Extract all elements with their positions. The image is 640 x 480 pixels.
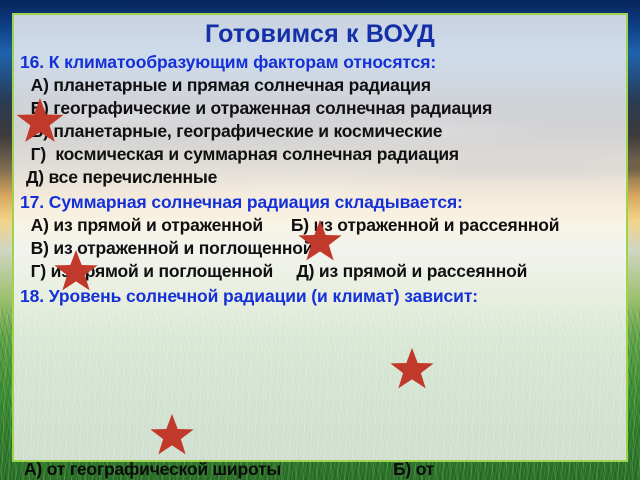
question-17-prompt: 17. Суммарная солнечная радиация складыв… [20, 191, 620, 214]
question-block-17: 17. Суммарная солнечная радиация складыв… [20, 191, 620, 283]
question-17-answer-a-b[interactable]: А) из прямой и отраженной Б) из отраженн… [20, 214, 620, 237]
question-block-18: 18. Уровень солнечной радиации (и климат… [20, 285, 620, 308]
overflow-text-line-label: А) от географической широты Б) от [0, 462, 640, 480]
overflow-text-line: А) от географической широты Б) от [0, 462, 640, 480]
question-17-answer-g-d[interactable]: Г) из прямой и поглощенной Д) из прямой … [20, 260, 620, 283]
question-16-answer-v[interactable]: В) планетарные, географические и космиче… [20, 120, 620, 143]
content-panel: Готовимся к ВОУД 16. К климатообразующим… [12, 13, 628, 462]
question-16-answer-b[interactable]: Б) географические и отраженная солнечная… [20, 97, 620, 120]
question-block-16: 16. К климатообразующим факторам относят… [20, 51, 620, 189]
question-17-answer-v[interactable]: В) из отраженной и поглощенной [20, 237, 620, 260]
slide-canvas: Готовимся к ВОУД 16. К климатообразующим… [0, 0, 640, 480]
content-panel-inner: Готовимся к ВОУД 16. К климатообразующим… [14, 15, 626, 460]
page-title: Готовимся к ВОУД [20, 17, 620, 49]
question-16-answer-a[interactable]: А) планетарные и прямая солнечная радиац… [20, 74, 620, 97]
question-16-answer-g-d[interactable]: Г) космическая и суммарная солнечная рад… [20, 143, 620, 189]
question-16-prompt: 16. К климатообразующим факторам относят… [20, 51, 620, 74]
question-18-prompt: 18. Уровень солнечной радиации (и климат… [20, 285, 620, 308]
